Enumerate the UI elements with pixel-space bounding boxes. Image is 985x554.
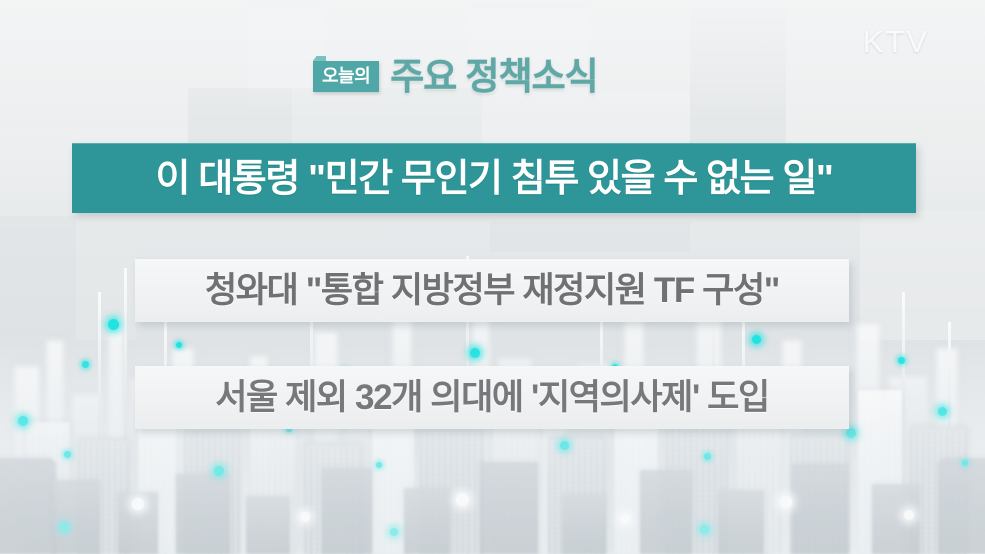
background-panel [470,0,590,8]
headline-text-2: 청와대 "통합 지방정부 재정지원 TF 구성" [205,273,779,308]
background-panel [248,0,326,10]
headline-banner-primary[interactable]: 이 대통령 "민간 무인기 침투 있을 수 없는 일" [72,143,916,213]
background-panel [490,222,690,252]
background-panel [690,8,786,148]
broadcast-graphic: KTV 오늘의 주요 정책소식 이 대통령 "민간 무인기 침투 있을 수 없는… [0,0,985,554]
today-badge: 오늘의 [313,61,379,92]
program-title: 주요 정책소식 [390,58,598,95]
headline-banner-secondary-1[interactable]: 청와대 "통합 지방정부 재정지원 TF 구성" [135,259,849,322]
headline-text-3: 서울 제외 32개 의대에 '지역의사제' 도입 [215,380,769,415]
background-panel [188,88,292,148]
headline-banner-secondary-2[interactable]: 서울 제외 32개 의대에 '지역의사제' 도입 [135,366,849,429]
ktv-logo: KTV [863,24,929,60]
background-panel [786,0,985,150]
show-title: 오늘의 주요 정책소식 [313,58,598,95]
background-panel [590,0,690,92]
headline-text-1: 이 대통령 "민간 무인기 침투 있을 수 없는 일" [155,160,832,198]
